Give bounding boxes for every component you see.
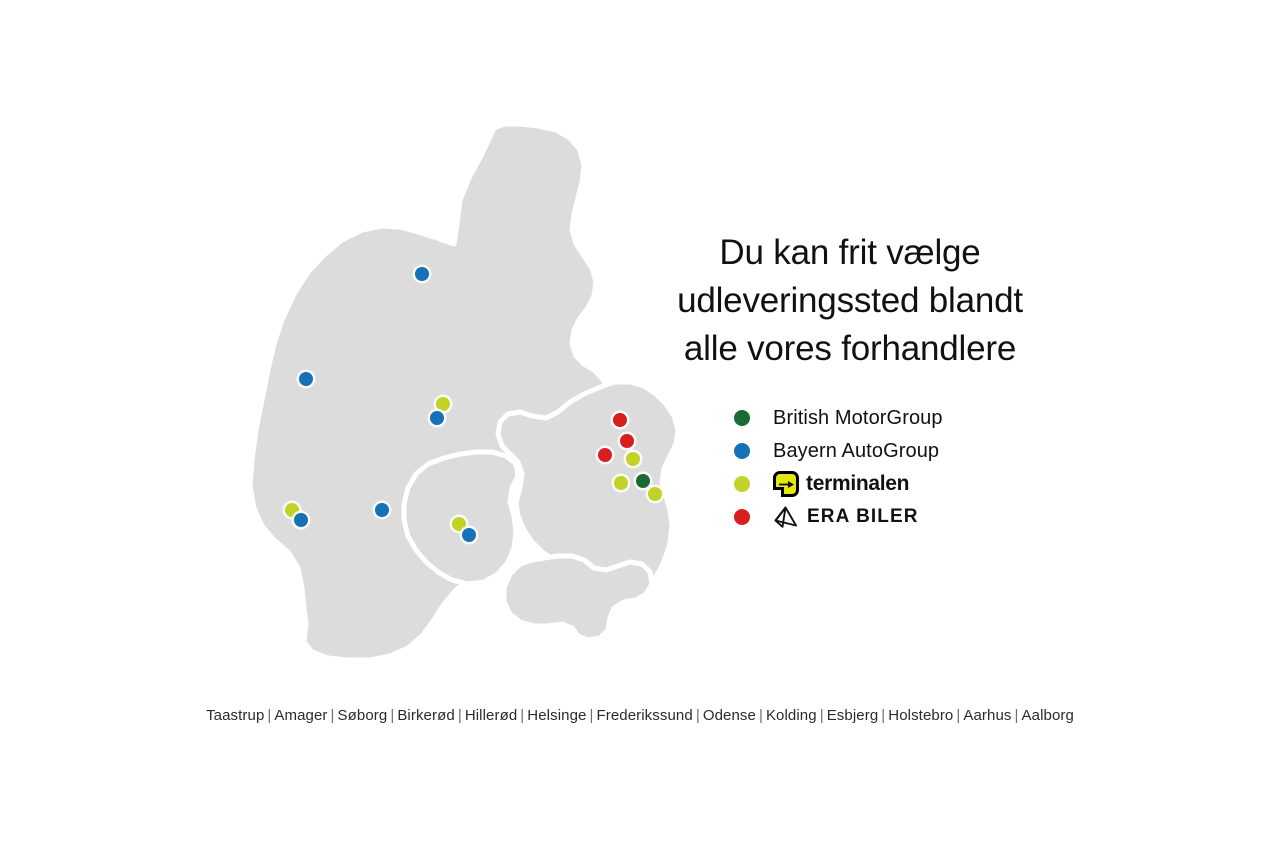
city-separator: | bbox=[517, 707, 527, 724]
denmark-map bbox=[232, 112, 702, 682]
city-separator: | bbox=[455, 707, 465, 724]
legend-item-bayern-autogroup[interactable]: Bayern AutoGroup bbox=[734, 434, 1064, 467]
region-lolland-falster bbox=[504, 556, 652, 640]
legend-label-british-motorgroup: British MotorGroup bbox=[773, 407, 943, 429]
page-title: Du kan frit vælge udleveringssted blandt… bbox=[636, 229, 1064, 373]
map-marker-kolding[interactable] bbox=[375, 503, 389, 517]
brand-legend: British MotorGroup Bayern AutoGroup term… bbox=[734, 401, 1064, 533]
legend-item-british-motorgroup[interactable]: British MotorGroup bbox=[734, 401, 1064, 434]
city-separator: | bbox=[693, 707, 703, 724]
city-separator: | bbox=[387, 707, 397, 724]
era-biler-wordmark: ERA BILER bbox=[807, 506, 919, 528]
map-marker-holstebro[interactable] bbox=[299, 372, 313, 386]
map-marker-birker-d[interactable] bbox=[626, 452, 640, 466]
city-name: Kolding bbox=[766, 707, 817, 724]
city-name: Birkerød bbox=[397, 707, 454, 724]
terminalen-notch-icon bbox=[773, 487, 784, 497]
map-marker-amager[interactable] bbox=[636, 474, 650, 488]
city-separator: | bbox=[953, 707, 963, 724]
city-name: Taastrup bbox=[206, 707, 264, 724]
poster-canvas: Du kan frit vælge udleveringssted blandt… bbox=[0, 0, 1280, 853]
map-marker-taastrup[interactable] bbox=[648, 487, 662, 501]
city-separator: | bbox=[756, 707, 766, 724]
city-separator: | bbox=[328, 707, 338, 724]
terminalen-lockup: terminalen bbox=[773, 471, 909, 497]
city-separator: | bbox=[1012, 707, 1022, 724]
city-name: Holstebro bbox=[888, 707, 953, 724]
legend-item-era-biler[interactable]: ERA BILER bbox=[734, 500, 1064, 533]
map-marker-hiller-d[interactable] bbox=[620, 434, 634, 448]
city-name: Odense bbox=[703, 707, 756, 724]
legend-dot-blue-icon bbox=[734, 443, 750, 459]
headline-line-2: udleveringssted blandt bbox=[636, 277, 1064, 325]
headline-line-3: alle vores forhandlere bbox=[636, 325, 1064, 373]
era-biler-triangle-icon bbox=[773, 506, 799, 528]
city-name: Frederikssund bbox=[596, 707, 692, 724]
terminalen-wordmark: terminalen bbox=[806, 472, 909, 496]
city-name: Søborg bbox=[338, 707, 388, 724]
legend-label-bayern-autogroup: Bayern AutoGroup bbox=[773, 440, 939, 462]
city-name: Aalborg bbox=[1022, 707, 1074, 724]
map-marker-esbjerg[interactable] bbox=[294, 513, 308, 527]
city-separator: | bbox=[264, 707, 274, 724]
map-marker-aarhus[interactable] bbox=[430, 411, 444, 425]
terminalen-logo-icon bbox=[773, 471, 799, 497]
city-name: Amager bbox=[274, 707, 327, 724]
map-marker-s-borg[interactable] bbox=[614, 476, 628, 490]
map-marker-odense[interactable] bbox=[462, 528, 476, 542]
legend-dot-green-icon bbox=[734, 410, 750, 426]
era-biler-lockup: ERA BILER bbox=[773, 506, 919, 528]
city-list: Taastrup|Amager|Søborg|Birkerød|Hillerød… bbox=[0, 705, 1280, 726]
city-name: Helsinge bbox=[527, 707, 586, 724]
map-marker-helsinge[interactable] bbox=[613, 413, 627, 427]
city-name: Esbjerg bbox=[827, 707, 879, 724]
city-separator: | bbox=[878, 707, 888, 724]
city-name: Hillerød bbox=[465, 707, 517, 724]
map-marker-frederikssund[interactable] bbox=[598, 448, 612, 462]
city-separator: | bbox=[817, 707, 827, 724]
denmark-map-svg bbox=[232, 112, 702, 682]
headline-line-1: Du kan frit vælge bbox=[636, 229, 1064, 277]
map-marker-aalborg[interactable] bbox=[415, 267, 429, 281]
city-name: Aarhus bbox=[963, 707, 1011, 724]
legend-dot-yellow-icon bbox=[734, 476, 750, 492]
legend-item-terminalen[interactable]: terminalen bbox=[734, 467, 1064, 500]
legend-dot-red-icon bbox=[734, 509, 750, 525]
city-separator: | bbox=[586, 707, 596, 724]
